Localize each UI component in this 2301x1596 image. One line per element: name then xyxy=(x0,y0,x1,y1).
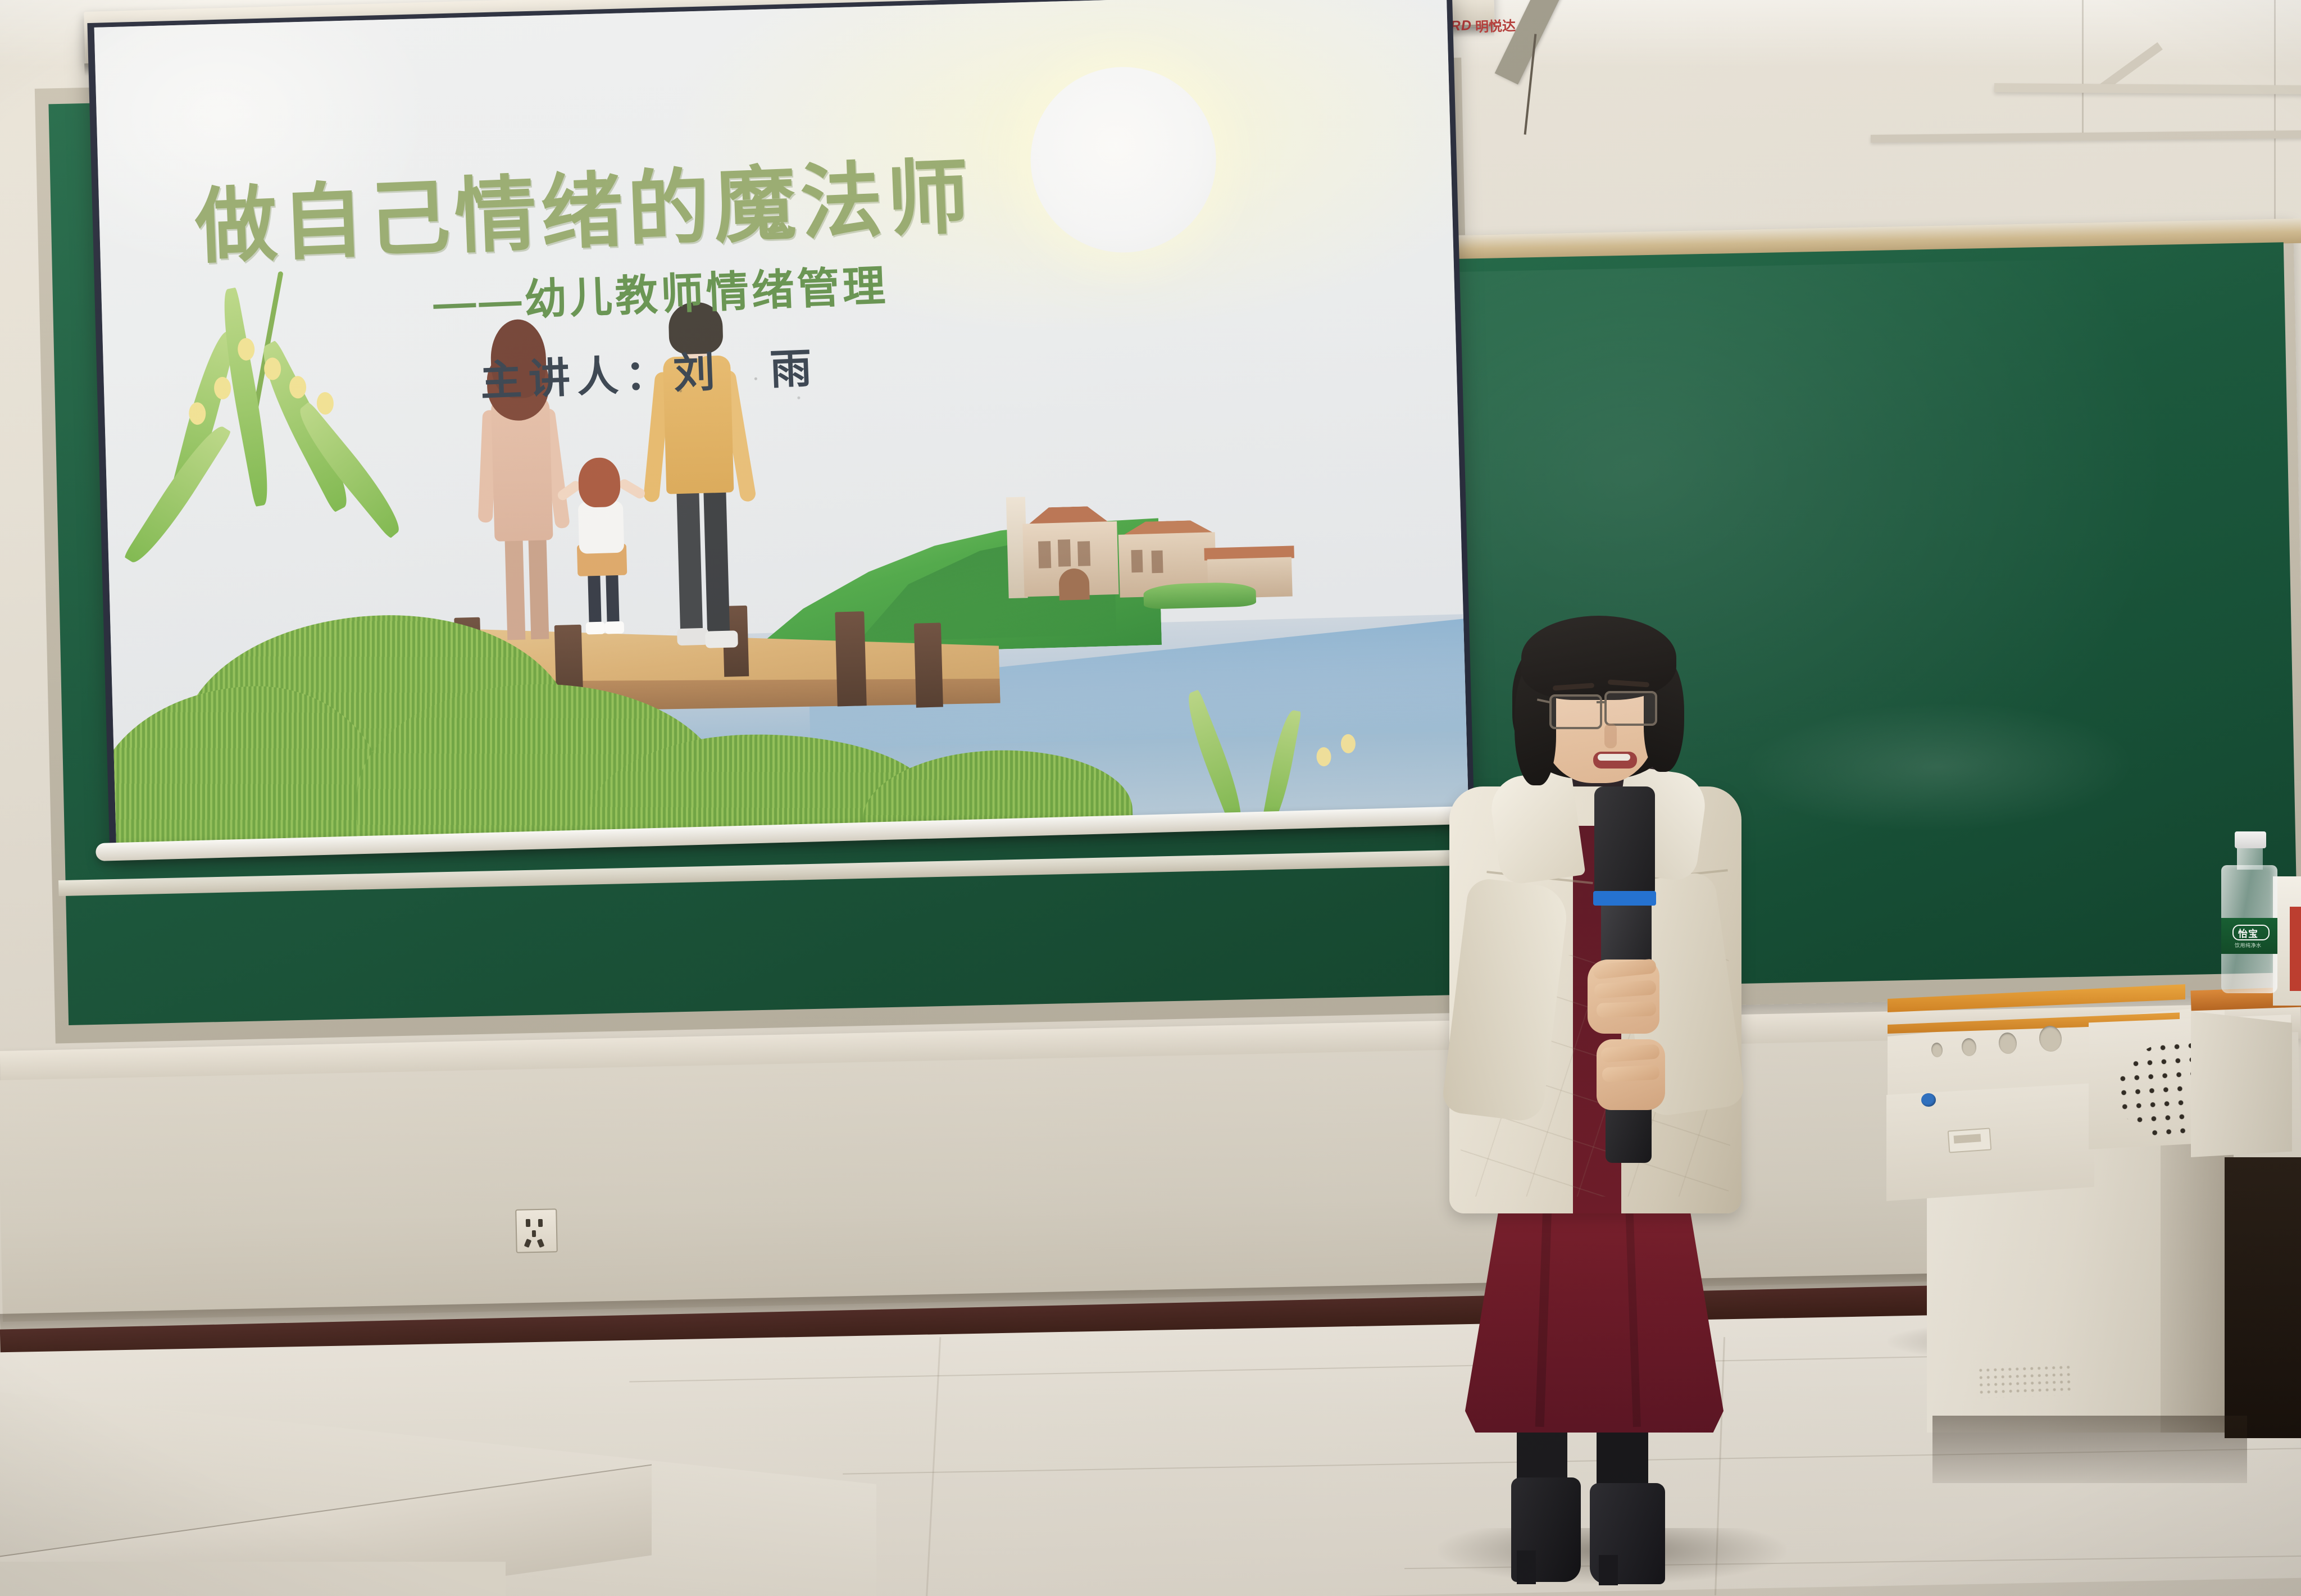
child-hair xyxy=(578,457,621,508)
pier-post xyxy=(914,622,943,707)
projection-screen: 做自己情绪的魔法师 ——幼儿教师情绪管理 主讲人：刘 雨 xyxy=(94,0,1469,851)
podium-under-shadow xyxy=(1932,1416,2247,1483)
mother-leg xyxy=(504,533,525,640)
teeth xyxy=(1598,754,1630,761)
villa-archway xyxy=(1058,568,1089,600)
nose xyxy=(1604,724,1617,748)
villa-window xyxy=(1038,541,1051,569)
father-leg xyxy=(676,486,703,638)
father-leg xyxy=(703,486,730,637)
glasses-lens xyxy=(1604,691,1657,726)
classroom-photo: GOODWE FIBER 光纤入户箱 MRD 明悦达 xyxy=(0,0,2301,1596)
villa-window xyxy=(1131,550,1143,573)
mother-leg xyxy=(528,532,549,639)
finger xyxy=(1602,1065,1659,1082)
pier-post xyxy=(835,611,867,706)
villa-window xyxy=(1077,541,1090,566)
boot-heel xyxy=(1599,1555,1618,1585)
podium-indicator-light[interactable] xyxy=(1921,1093,1936,1107)
jacket-collar xyxy=(1488,769,1586,886)
floor-left xyxy=(0,1562,506,1596)
podium-side-panel xyxy=(2191,1011,2292,1157)
bottle-cap[interactable] xyxy=(2235,831,2266,848)
father-shoe xyxy=(677,628,709,646)
microphone-head[interactable] xyxy=(1594,786,1655,893)
villa-window xyxy=(1058,539,1071,567)
red-box-object xyxy=(2290,907,2301,991)
brand-name-text: 明悦达 xyxy=(1475,15,1516,35)
father-shoe xyxy=(705,630,738,648)
podium-right-dark-panel xyxy=(2225,1157,2301,1438)
bottle-brand-text: 怡宝 xyxy=(2238,926,2258,940)
podium-embossed-pattern xyxy=(1977,1363,2073,1398)
podium-base-shading xyxy=(2161,1140,2234,1433)
outlet-slot xyxy=(532,1230,536,1237)
child-shoe xyxy=(586,622,606,635)
wall-seam xyxy=(2082,0,2084,140)
outlet-slot xyxy=(526,1219,530,1227)
screen-specks xyxy=(609,361,846,418)
presenter-hair-fringe xyxy=(1521,616,1676,700)
glasses-lens xyxy=(1549,694,1602,729)
chalk-dust xyxy=(1740,698,2136,835)
child-leg xyxy=(606,572,620,626)
villa-window xyxy=(1151,551,1163,574)
power-outlet[interactable] xyxy=(515,1208,558,1253)
child-leg xyxy=(588,572,602,627)
finger xyxy=(1597,1001,1657,1018)
microphone-band xyxy=(1593,891,1656,906)
child-body xyxy=(578,501,624,554)
glasses-bridge xyxy=(1597,701,1607,703)
child-shoe xyxy=(605,621,625,634)
bottle-subtext: 饮用纯净水 xyxy=(2235,942,2262,949)
boot-heel xyxy=(1517,1550,1536,1584)
villa-shrub xyxy=(1143,581,1256,609)
outlet-slot xyxy=(538,1219,543,1227)
